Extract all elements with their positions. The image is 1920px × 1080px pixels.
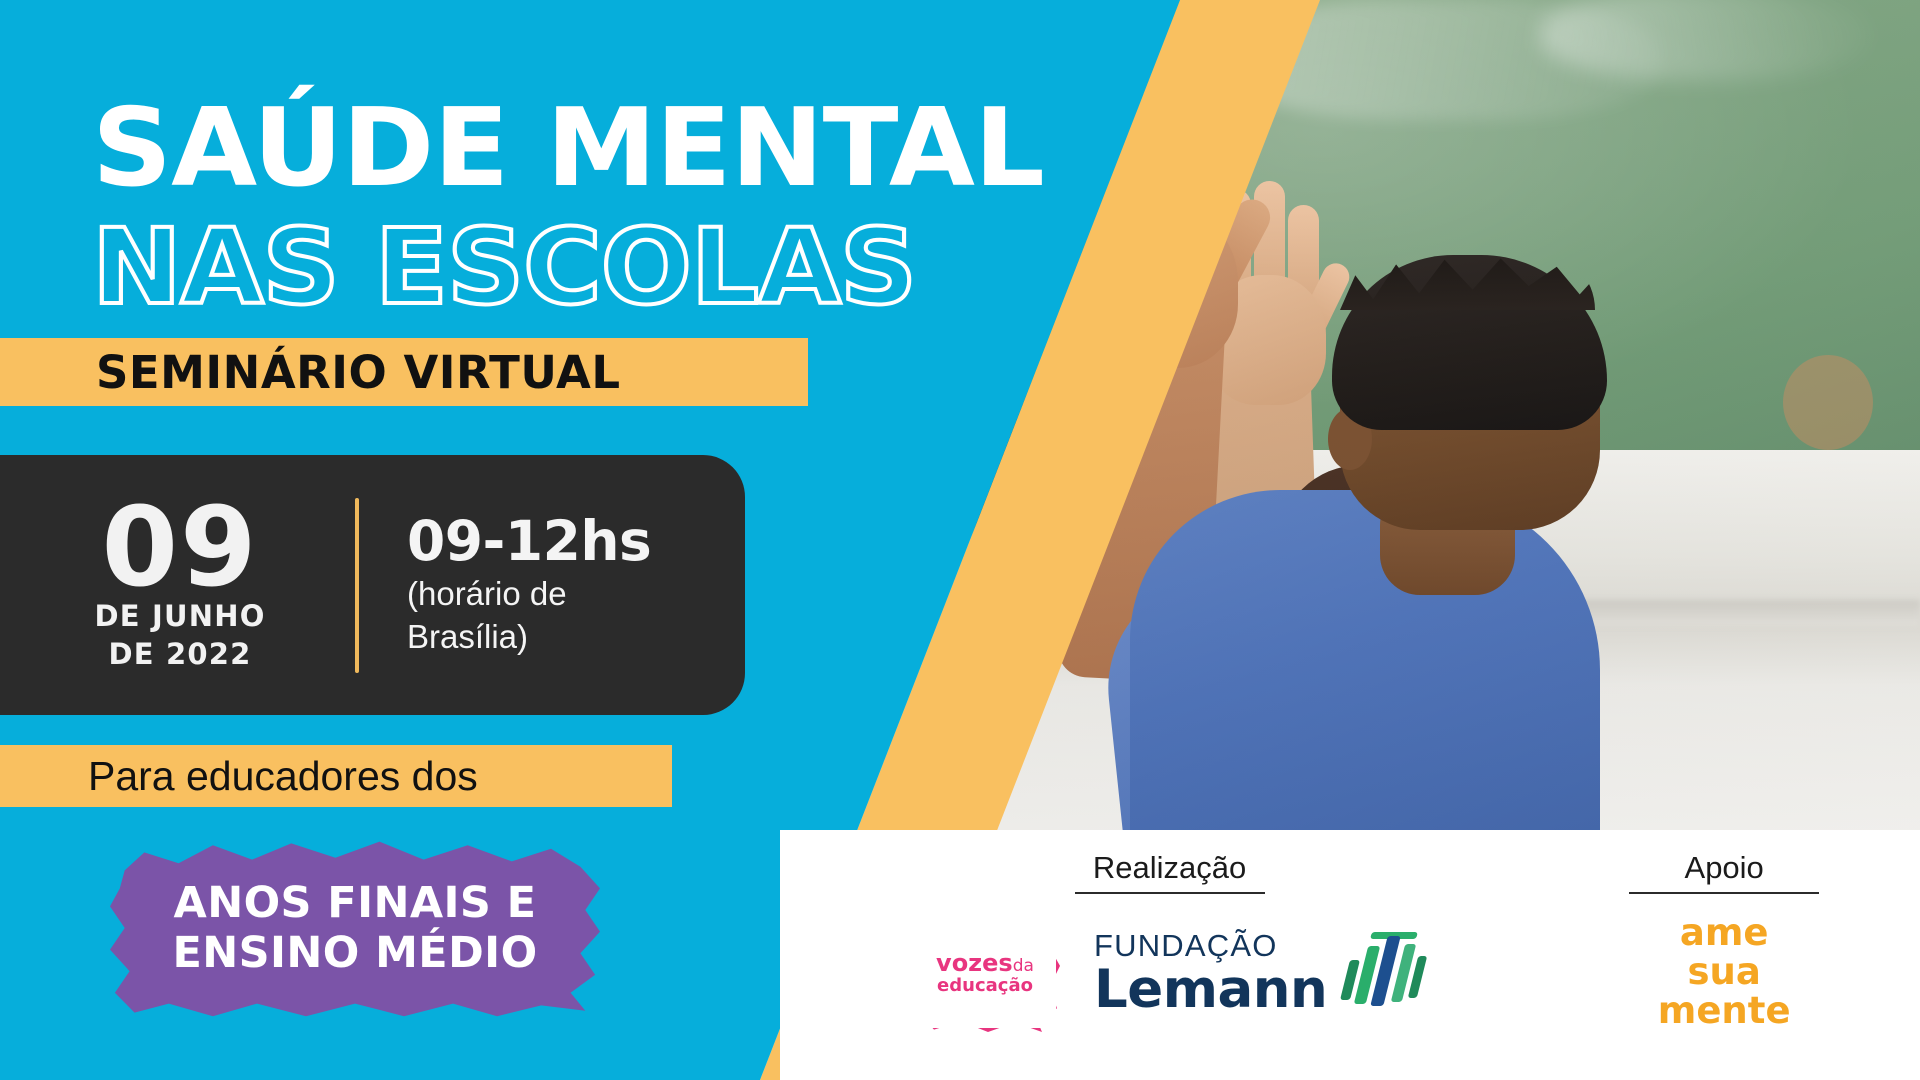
lemann-line-1: FUNDAÇÃO xyxy=(1094,930,1327,961)
headline-line-2: NAS ESCOLAS xyxy=(92,215,916,319)
ame-line-3: mente xyxy=(1658,992,1791,1031)
apoio-logo-row: ame sua mente xyxy=(1658,914,1791,1031)
photo-student-blue-shirt xyxy=(1130,490,1600,830)
audience-blob: ANOS FINAIS E ENSINO MÉDIO xyxy=(110,838,600,1018)
vozes-logo-word-2: educação xyxy=(937,976,1033,996)
vozes-da-educacao-logo: vozesda educação xyxy=(910,914,1060,1032)
realizacao-label: Realização xyxy=(1075,850,1265,894)
ame-line-1: ame xyxy=(1658,914,1791,953)
date-block: 09 DE JUNHO DE 2022 xyxy=(0,497,355,672)
date-month: DE JUNHO xyxy=(5,598,355,635)
timezone-line-2: Brasília) xyxy=(407,618,651,657)
lemann-line-2: Lemann xyxy=(1094,963,1327,1016)
footer-logos-bar: Realização vozesda educação FUNDAÇÃO Lem… xyxy=(780,830,1920,1080)
realizacao-group: Realização vozesda educação FUNDAÇÃO Lem… xyxy=(910,850,1429,1032)
apoio-group: Apoio ame sua mente xyxy=(1629,850,1819,1031)
vozes-logo-word-1: vozesda xyxy=(936,951,1034,976)
apoio-label: Apoio xyxy=(1629,850,1819,894)
date-year: DE 2022 xyxy=(5,636,355,673)
photo-student-orange-face xyxy=(1783,355,1873,450)
ame-sua-mente-logo: ame sua mente xyxy=(1658,914,1791,1031)
fundacao-lemann-logo: FUNDAÇÃO Lemann xyxy=(1094,930,1429,1016)
ame-line-2: sua xyxy=(1658,953,1791,992)
audience-stripe: Para educadores dos xyxy=(0,745,672,807)
timezone-line-1: (horário de xyxy=(407,575,651,614)
headline-line-1: SAÚDE MENTAL xyxy=(92,95,1044,203)
vozes-word-da: da xyxy=(1013,956,1034,976)
audience-blob-line-2: ENSINO MÉDIO xyxy=(172,928,537,978)
vozes-word-vozes: vozes xyxy=(936,949,1013,977)
chalkboard-smudge-2 xyxy=(1540,0,1870,80)
seminar-banner: SAÚDE MENTAL NAS ESCOLAS SEMINÁRIO VIRTU… xyxy=(0,0,1920,1080)
date-day: 09 xyxy=(5,497,355,598)
time-range: 09-12hs xyxy=(407,513,651,571)
lemann-brushstroke-icon xyxy=(1341,930,1429,1016)
seminar-type-stripe: SEMINÁRIO VIRTUAL xyxy=(0,338,808,406)
date-time-card: 09 DE JUNHO DE 2022 09-12hs (horário de … xyxy=(0,455,745,715)
lemann-wordmark: FUNDAÇÃO Lemann xyxy=(1094,930,1327,1016)
seminar-type-label: SEMINÁRIO VIRTUAL xyxy=(96,346,621,399)
audience-blob-line-1: ANOS FINAIS E xyxy=(174,878,537,928)
audience-stripe-label: Para educadores dos xyxy=(88,753,478,800)
time-block: 09-12hs (horário de Brasília) xyxy=(359,513,651,657)
realizacao-logo-row: vozesda educação FUNDAÇÃO Lemann xyxy=(910,914,1429,1032)
